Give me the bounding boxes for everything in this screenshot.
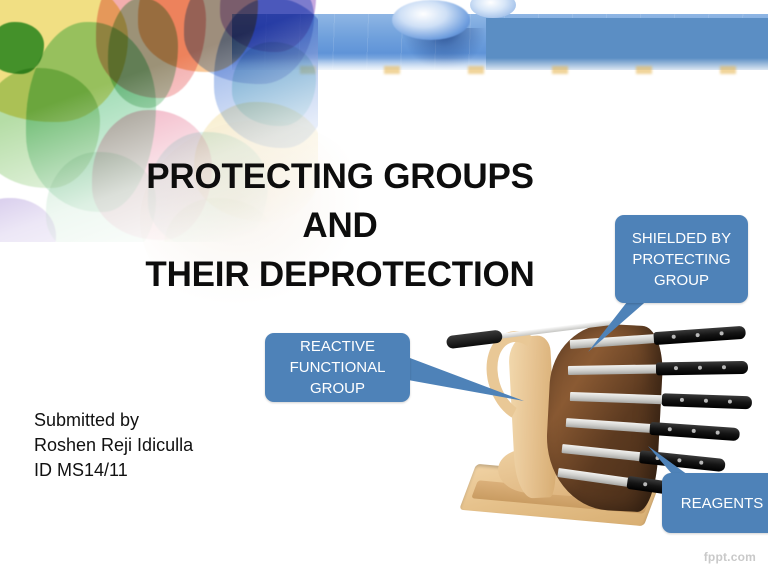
fppt-watermark: fppt.com [704,550,756,564]
submitted-by-block: Submitted by Roshen Reji Idiculla ID MS1… [34,408,193,483]
submitted-line-1: Submitted by [34,408,193,433]
callout-shielded-label: SHIELDED BY PROTECTING GROUP [615,228,748,291]
header-banner-orb [392,0,470,40]
callout-reagents-label: REAGENTS [675,493,768,514]
header-banner-gold-accents [300,66,768,74]
callout-shielded-by-protecting-group[interactable]: SHIELDED BY PROTECTING GROUP [615,215,748,303]
submitted-line-3: ID MS14/11 [34,458,193,483]
title-line-3: THEIR DEPROTECTION [40,250,640,299]
callout-reactive-functional-group[interactable]: REACTIVE FUNCTIONAL GROUP [265,333,410,402]
page-title: PROTECTING GROUPS AND THEIR DEPROTECTION [40,152,640,299]
knife-2 [568,361,746,377]
callout-reagents[interactable]: REAGENTS [662,473,768,533]
title-line-2: AND [40,201,640,250]
title-line-1: PROTECTING GROUPS [40,152,640,201]
presentation-slide: PROTECTING GROUPS AND THEIR DEPROTECTION… [0,0,768,576]
callout-reactive-label: REACTIVE FUNCTIONAL GROUP [265,336,410,399]
submitted-line-2: Roshen Reji Idiculla [34,433,193,458]
